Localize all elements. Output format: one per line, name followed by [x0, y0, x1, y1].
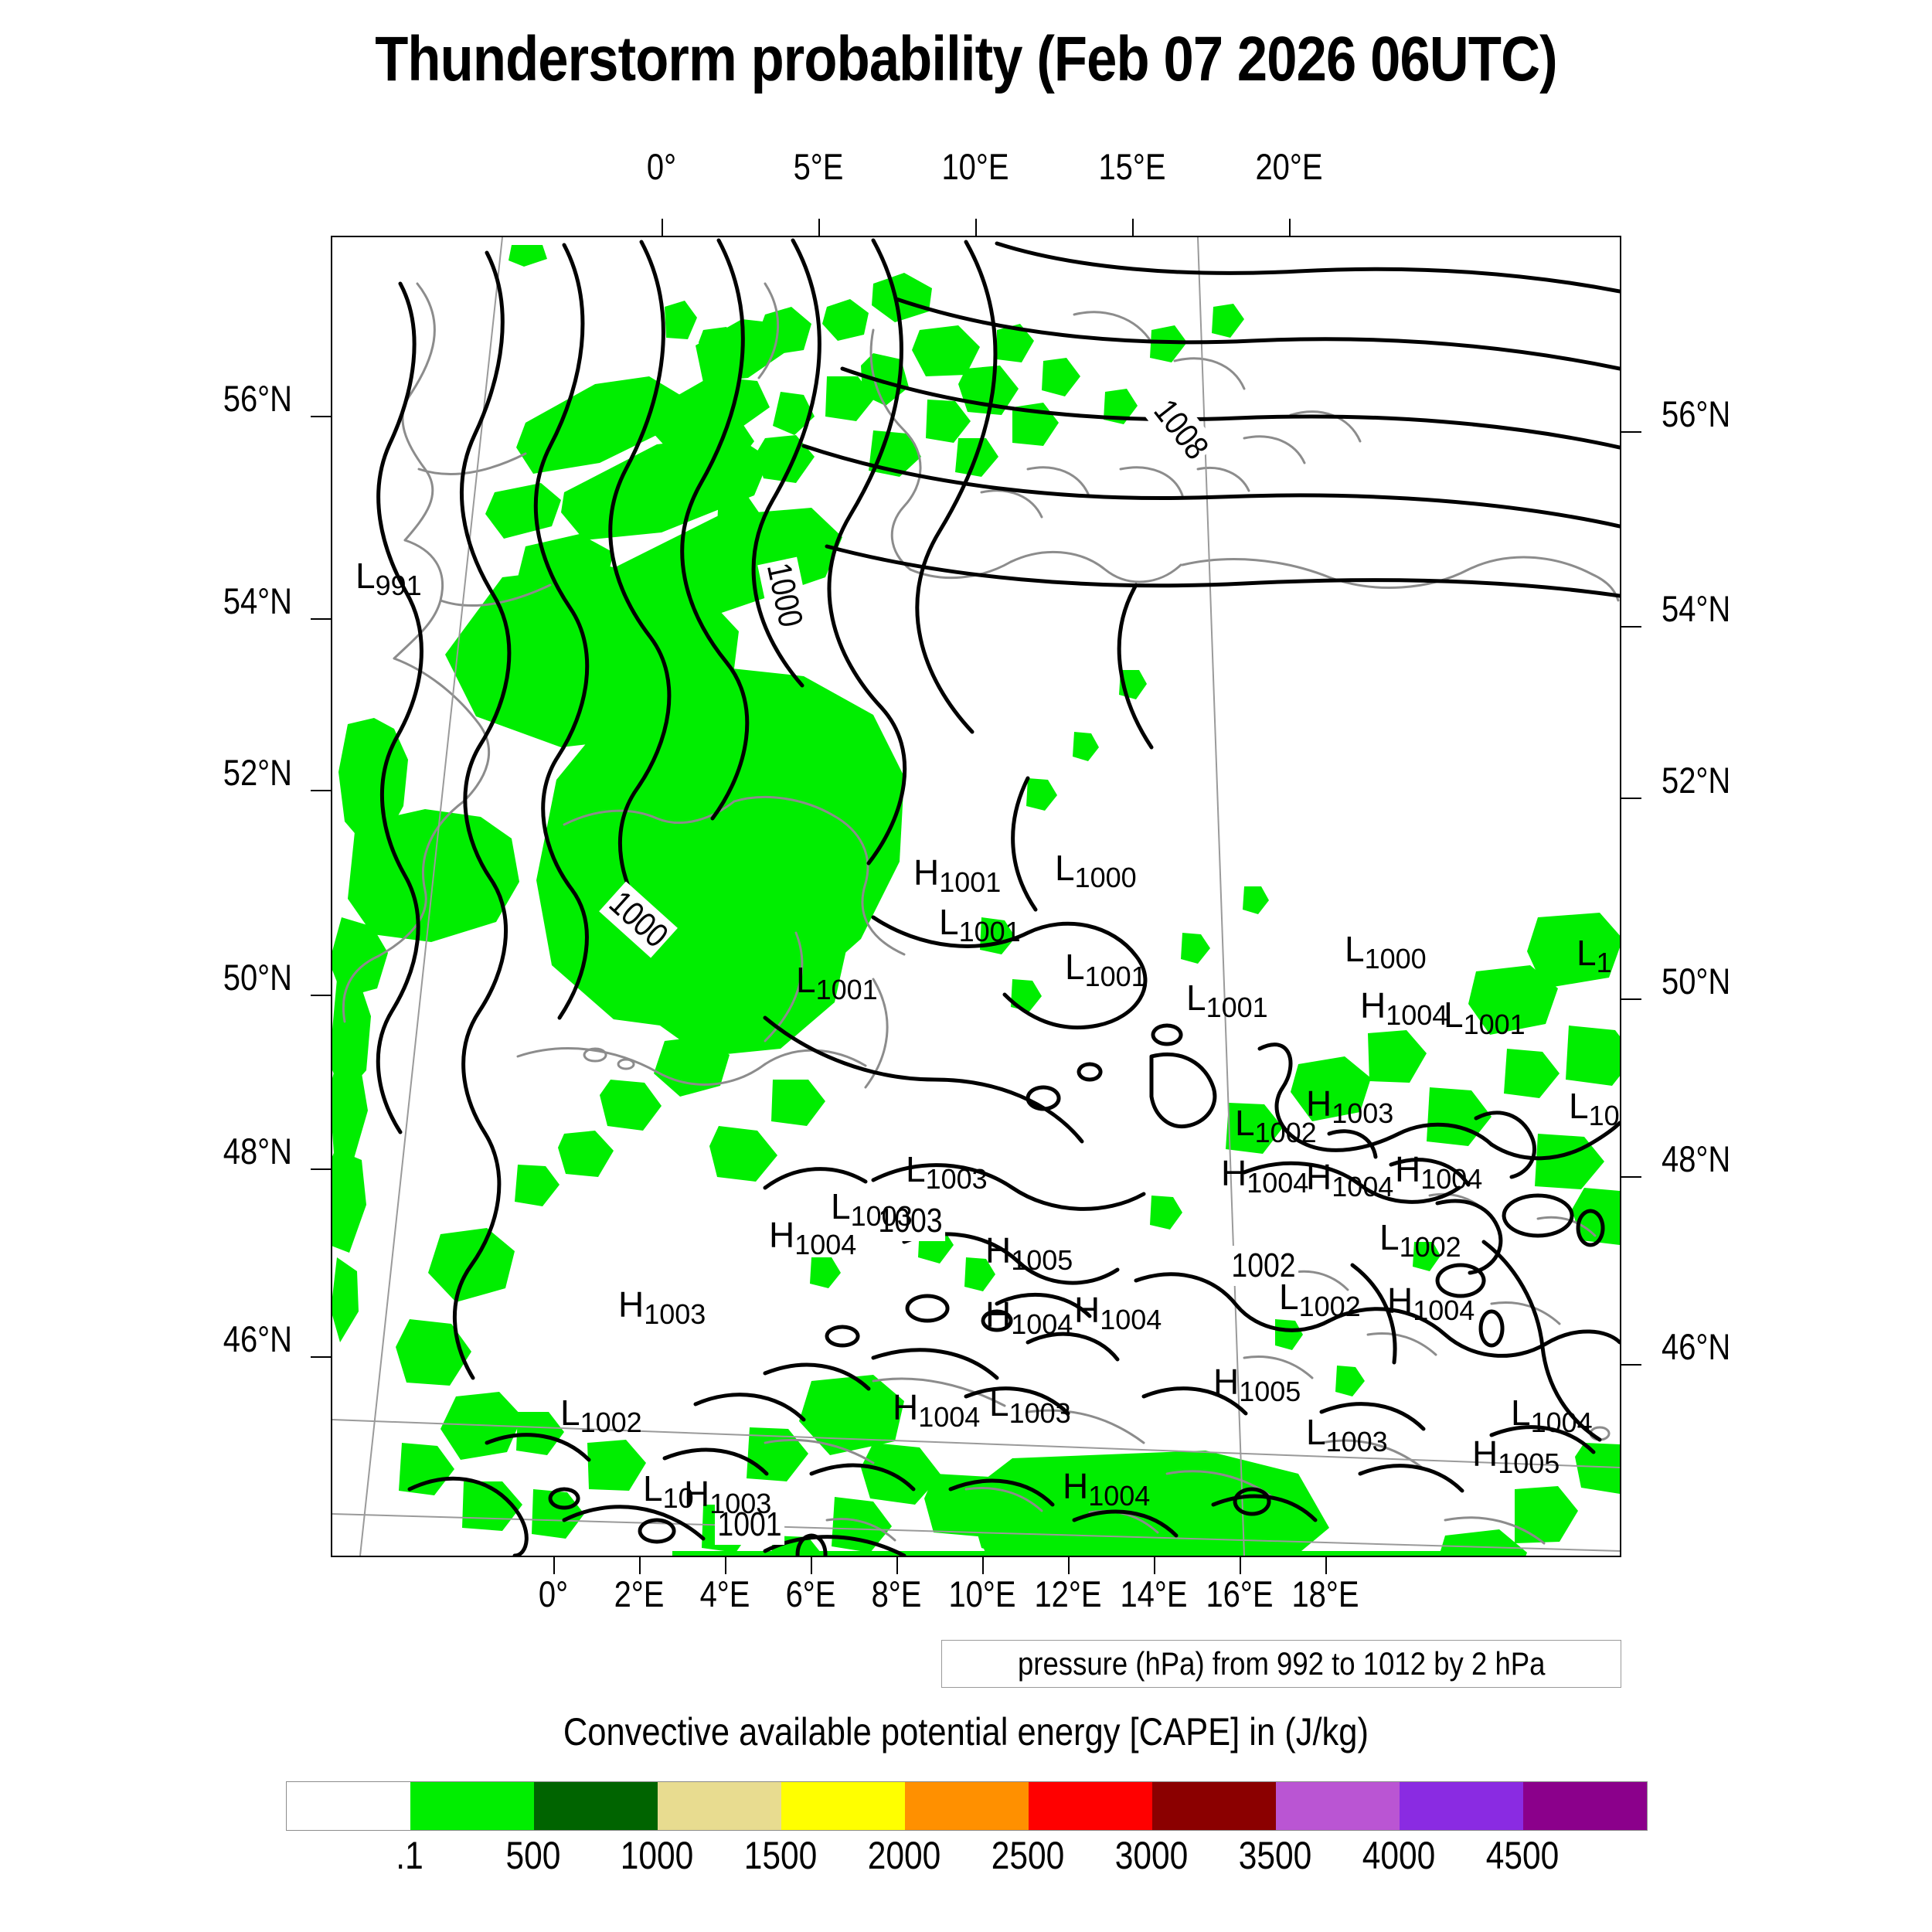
axis-label-right-4: 48°N	[1662, 1138, 1819, 1180]
axis-label-right-2: 52°N	[1662, 759, 1819, 801]
colorbar-label-5: 2500	[992, 1833, 1065, 1878]
pressure-marker-value: 1004	[1011, 1308, 1073, 1340]
axis-tick	[1621, 798, 1641, 799]
pressure-marker-kind: H	[1387, 1281, 1413, 1321]
pressure-marker-kind: L	[1065, 947, 1085, 987]
colorbar-swatch-10[interactable]	[1523, 1782, 1647, 1830]
axis-tick	[982, 1557, 984, 1574]
pressure-marker-value: 991	[376, 570, 422, 601]
pressure-marker-h-15: H1004	[1306, 1159, 1393, 1195]
pressure-marker-kind: H	[1063, 1466, 1088, 1506]
pressure-marker-kind: H	[1221, 1153, 1247, 1193]
pressure-marker-kind: L	[1345, 929, 1365, 969]
pressure-marker-value: 1004	[1100, 1304, 1162, 1335]
pressure-marker-value: 1001	[1206, 992, 1268, 1023]
pressure-marker-kind: H	[1306, 1157, 1332, 1197]
colorbar-swatch-0[interactable]	[287, 1782, 410, 1830]
pressure-marker-h-9: H1004	[1360, 988, 1447, 1023]
pressure-marker-value: 1002	[1299, 1291, 1361, 1322]
axis-label-left-4: 48°N	[134, 1130, 292, 1172]
pressure-marker-value: 1	[1597, 947, 1612, 978]
cape-shaded-region	[332, 245, 1620, 1556]
pressure-marker-l-33: L1002	[560, 1395, 642, 1430]
pressure-marker-l-2: L1001	[939, 904, 1021, 940]
axis-label-right-5: 46°N	[1662, 1325, 1819, 1368]
axis-tick	[1132, 219, 1134, 236]
axis-tick	[1068, 1557, 1070, 1574]
axis-tick	[639, 1557, 641, 1574]
axis-tick	[662, 219, 663, 236]
colorbar-label-0: .1	[396, 1833, 423, 1878]
pressure-marker-kind: H	[985, 1230, 1011, 1270]
axis-tick	[818, 219, 820, 236]
pressure-marker-value: 1000	[1075, 862, 1137, 893]
pressure-marker-value: 1002	[1255, 1117, 1317, 1148]
pressure-marker-h-36: H1004	[1063, 1468, 1150, 1504]
pressure-marker-kind: L	[906, 1149, 926, 1189]
pressure-marker-value: 1004	[1420, 1163, 1482, 1195]
pressure-marker-value: 1004	[794, 1229, 856, 1260]
colorbar-swatch-8[interactable]	[1276, 1782, 1400, 1830]
pressure-marker-kind: L	[1379, 1217, 1400, 1257]
colorbar-swatch-2[interactable]	[534, 1782, 658, 1830]
axis-tick	[311, 995, 331, 996]
pressure-marker-value: 1003	[1332, 1097, 1393, 1129]
pressure-marker-h-20: H1005	[985, 1233, 1073, 1268]
colorbar-swatch-6[interactable]	[1029, 1782, 1152, 1830]
pressure-marker-value: 1001	[1085, 961, 1147, 992]
axis-tick	[311, 790, 331, 791]
axis-label-left-1: 54°N	[134, 580, 292, 622]
pressure-marker-l-12: L10	[1569, 1088, 1620, 1124]
pressure-marker-kind: L	[1569, 1086, 1589, 1126]
colorbar-label-1: 500	[506, 1833, 561, 1878]
cape-caption: Convective available potential energy [C…	[0, 1709, 1932, 1754]
pressure-marker-h-26: H1004	[1074, 1292, 1162, 1328]
colorbar-label-8: 4000	[1362, 1833, 1436, 1878]
pressure-marker-kind: L	[355, 556, 376, 596]
pressure-marker-l-31: L1004	[1511, 1395, 1593, 1430]
axis-tick	[1621, 626, 1641, 628]
pressure-marker-l-3: L1000	[1055, 850, 1137, 886]
axis-tick	[311, 618, 331, 620]
pressure-marker-value: 1004	[1247, 1167, 1308, 1199]
pressure-marker-value: 1003	[851, 1200, 913, 1232]
colorbar-label-7: 3500	[1239, 1833, 1312, 1878]
cape-colorbar[interactable]	[286, 1781, 1648, 1831]
pressure-marker-value: 1004	[1531, 1406, 1593, 1438]
cape-caption-text: Convective available potential energy [C…	[563, 1709, 1369, 1754]
colorbar-label-3: 1500	[744, 1833, 818, 1878]
pressure-marker-kind: L	[796, 960, 816, 1000]
axis-tick	[1621, 1176, 1641, 1178]
axis-tick	[1621, 998, 1641, 1000]
colorbar-swatch-1[interactable]	[410, 1782, 534, 1830]
pressure-marker-kind: L	[1511, 1393, 1531, 1433]
colorbar-swatch-4[interactable]	[781, 1782, 905, 1830]
colorbar-swatch-3[interactable]	[658, 1782, 781, 1830]
pressure-marker-l-4: L1001	[796, 962, 878, 998]
axis-label-right-3: 50°N	[1662, 960, 1819, 1002]
axis-tick	[1154, 1557, 1155, 1574]
axis-tick	[811, 1557, 812, 1574]
pressure-marker-value: 1004	[918, 1401, 980, 1433]
axis-label-top-2: 10°E	[917, 145, 1035, 188]
pressure-marker-h-19: H1004	[769, 1217, 856, 1253]
pressure-marker-h-22: H1004	[1387, 1283, 1475, 1318]
axis-label-bottom-9: 18°E	[1267, 1573, 1385, 1615]
pressure-marker-value: 1003	[926, 1163, 988, 1195]
pressure-marker-h-32: H1005	[1472, 1436, 1560, 1471]
axis-tick	[311, 1168, 331, 1170]
pressure-marker-kind: H	[1213, 1362, 1239, 1402]
pressure-marker-l-23: L1002	[1279, 1279, 1361, 1315]
pressure-marker-value: 1005	[1239, 1376, 1301, 1407]
pressure-marker-value: 1004	[1413, 1294, 1475, 1326]
axis-tick	[1240, 1557, 1241, 1574]
axis-tick	[311, 416, 331, 417]
pressure-marker-h-16: H1004	[1395, 1151, 1482, 1187]
pressure-marker-l-13: L1002	[1235, 1105, 1317, 1141]
page-title: Thunderstorm probability (Feb 07 2026 06…	[135, 23, 1797, 96]
axis-tick	[1289, 219, 1291, 236]
pressure-marker-value: 1004	[1386, 999, 1447, 1031]
pressure-marker-h-11: H1003	[1306, 1086, 1393, 1121]
pressure-marker-l-21: L1002	[1379, 1219, 1461, 1255]
pressure-marker-l-10: L1001	[1444, 997, 1526, 1032]
pressure-marker-kind: H	[1074, 1290, 1100, 1330]
axis-label-right-1: 54°N	[1662, 587, 1819, 630]
pressure-marker-kind: L	[939, 902, 959, 942]
pressure-marker-kind: L	[1235, 1103, 1255, 1143]
pressure-marker-kind: L	[1444, 995, 1464, 1035]
axis-tick	[311, 1356, 331, 1358]
pressure-marker-kind: H	[913, 852, 939, 893]
colorbar-label-4: 2000	[868, 1833, 941, 1878]
pressure-marker-value: 1003	[1326, 1426, 1388, 1458]
pressure-marker-kind: H	[1472, 1434, 1498, 1474]
axis-tick	[975, 219, 977, 236]
cape-colorbar-labels: .150010001500200025003000350040004500	[286, 1833, 1646, 1879]
colorbar-swatch-5[interactable]	[905, 1782, 1029, 1830]
colorbar-swatch-7[interactable]	[1152, 1782, 1276, 1830]
pressure-marker-h-25: H1004	[985, 1297, 1073, 1332]
axis-tick	[553, 1557, 555, 1574]
axis-label-right-0: 56°N	[1662, 393, 1819, 435]
pressure-marker-kind: H	[618, 1284, 644, 1325]
pressure-marker-value: 1000	[1365, 943, 1427, 975]
pressure-marker-h-28: H1004	[893, 1389, 980, 1425]
pressure-marker-value: 1004	[1088, 1480, 1150, 1512]
pressure-marker-l-0: L991	[355, 558, 422, 594]
pressure-marker-kind: L	[1055, 848, 1075, 888]
pressure-marker-value: 1005	[1011, 1244, 1073, 1276]
pressure-marker-value: 1001	[939, 866, 1001, 898]
pressure-marker-h-27: H1005	[1213, 1364, 1301, 1400]
pressure-marker-kind: L	[560, 1393, 580, 1433]
axis-label-left-0: 56°N	[134, 377, 292, 420]
axis-label-left-5: 46°N	[134, 1318, 292, 1360]
pressure-marker-h-1: H1001	[912, 854, 1002, 891]
axis-label-top-0: 0°	[603, 145, 721, 188]
pressure-marker-kind: H	[769, 1215, 794, 1255]
pressure-marker-h-14: H1004	[1221, 1155, 1308, 1191]
pressure-marker-l-17: L1003	[906, 1151, 988, 1187]
pressure-marker-value: 1002	[1400, 1231, 1461, 1263]
pressure-marker-value: 1004	[1332, 1171, 1393, 1202]
pressure-marker-value: 1001	[959, 916, 1021, 947]
axis-label-top-4: 20°E	[1230, 145, 1349, 188]
pressure-marker-l-7: L1000	[1345, 931, 1427, 967]
pressure-marker-h-35: H1003	[684, 1476, 771, 1512]
pressure-marker-l-8: L1	[1577, 935, 1612, 971]
pressure-marker-kind: H	[684, 1474, 709, 1514]
axis-label-top-1: 5°E	[760, 145, 878, 188]
axis-label-left-2: 52°N	[134, 751, 292, 794]
colorbar-swatch-9[interactable]	[1400, 1782, 1523, 1830]
pressure-marker-value: 1001	[816, 974, 878, 1005]
pressure-marker-value: 1003	[644, 1298, 706, 1330]
pressure-marker-l-5: L1001	[1065, 949, 1147, 985]
pressure-marker-l-30: L1003	[1306, 1414, 1388, 1450]
colorbar-label-2: 1000	[621, 1833, 694, 1878]
pressure-marker-value: 10	[1589, 1100, 1620, 1131]
axis-tick	[1325, 1557, 1327, 1574]
axis-tick	[1621, 431, 1641, 433]
pressure-marker-value: 1003	[709, 1488, 771, 1519]
pressure-marker-kind: L	[1577, 933, 1597, 973]
colorbar-label-6: 3000	[1115, 1833, 1189, 1878]
pressure-marker-value: 1001	[1464, 1009, 1526, 1040]
pressure-marker-kind: H	[893, 1387, 918, 1427]
pressure-marker-kind: H	[985, 1294, 1011, 1335]
pressure-marker-l-29: L1003	[989, 1386, 1071, 1421]
pressure-legend-text: pressure (hPa) from 992 to 1012 by 2 hPa	[1018, 1645, 1545, 1682]
pressure-marker-kind: L	[643, 1468, 663, 1509]
axis-tick	[896, 1557, 898, 1574]
axis-tick	[725, 1557, 726, 1574]
pressure-marker-kind: H	[1360, 985, 1386, 1026]
pressure-marker-kind: L	[1279, 1277, 1299, 1317]
pressure-marker-value: 1005	[1498, 1447, 1560, 1479]
pressure-marker-kind: L	[989, 1383, 1009, 1423]
pressure-marker-l-6: L1001	[1186, 980, 1268, 1015]
pressure-marker-kind: L	[1186, 978, 1206, 1018]
axis-label-left-3: 50°N	[134, 956, 292, 998]
colorbar-label-9: 4500	[1486, 1833, 1560, 1878]
pressure-marker-kind: L	[1306, 1412, 1326, 1452]
pressure-legend-box: pressure (hPa) from 992 to 1012 by 2 hPa	[941, 1640, 1621, 1688]
pressure-marker-h-24: H1003	[618, 1287, 706, 1322]
pressure-marker-kind: H	[1395, 1149, 1420, 1189]
axis-tick	[1621, 1364, 1641, 1366]
axis-label-top-3: 15°E	[1073, 145, 1192, 188]
pressure-marker-value: 1003	[1009, 1397, 1071, 1429]
pressure-marker-value: 1002	[580, 1406, 642, 1438]
